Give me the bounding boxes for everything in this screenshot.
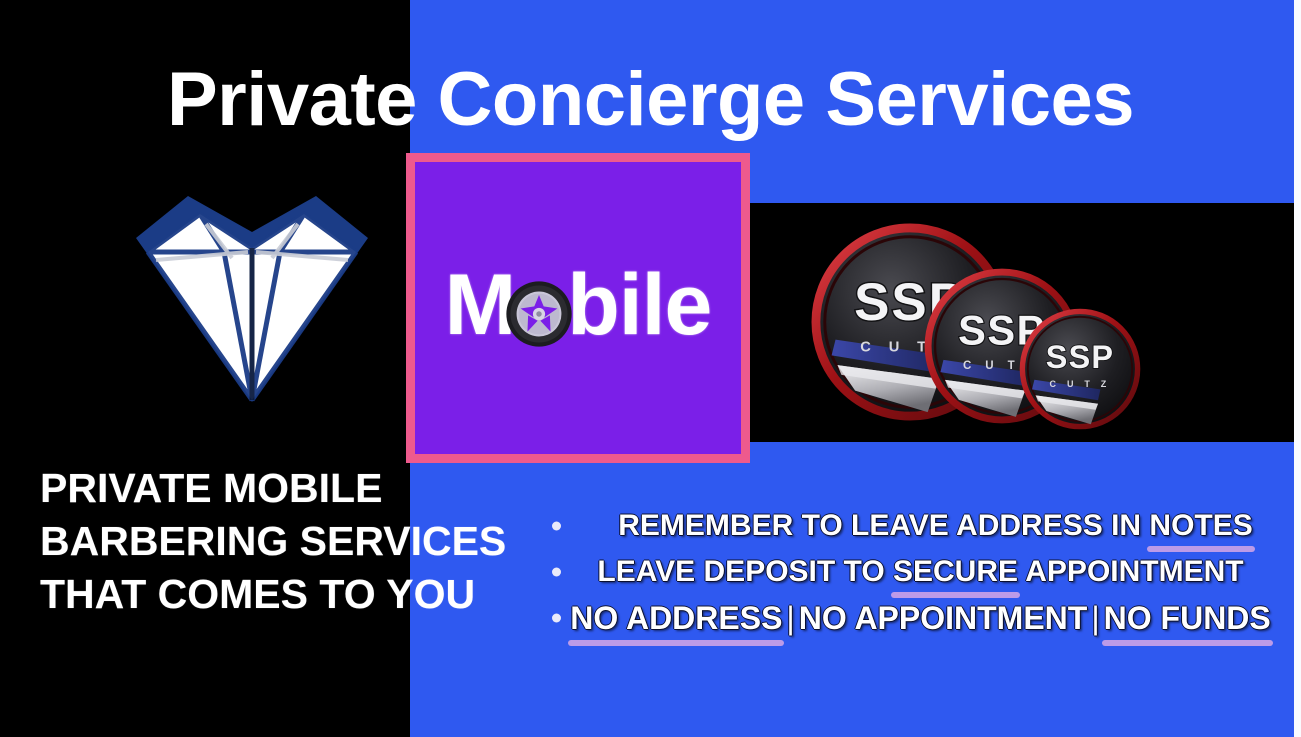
list-item: REMEMBER TO LEAVE ADDRESS IN NOTES xyxy=(548,503,1293,549)
tagline-line-2: BARBERING SERVICES xyxy=(40,515,560,568)
promo-graphic-canvas: Private Concierge Services xyxy=(0,0,1301,737)
bullet-3-part2: NO APPOINTMENT xyxy=(799,600,1088,636)
bullet-dot-icon xyxy=(552,522,561,531)
tire-wheel-icon xyxy=(505,280,573,348)
list-item-text: REMEMBER TO LEAVE ADDRESS IN NOTES xyxy=(548,509,1293,543)
bullet-3-part3: NO FUNDS xyxy=(1104,600,1271,637)
bullet-1-underlined: NOTES xyxy=(1149,509,1252,543)
mobile-badge-card: M bile xyxy=(406,153,750,463)
bullet-3-separator-1: | xyxy=(782,600,798,637)
bullet-1-pre: REMEMBER TO LEAVE ADDRESS IN xyxy=(618,509,1149,542)
tagline-line-1: PRIVATE MOBILE xyxy=(40,462,560,515)
list-item: LEAVE DEPOSIT TO SECURE APPOINTMENT xyxy=(548,549,1293,595)
bullet-3-separator-2: | xyxy=(1087,600,1103,637)
bullet-dot-icon xyxy=(552,568,561,577)
diamond-gem-icon xyxy=(128,186,376,408)
list-item-text: LEAVE DEPOSIT TO SECURE APPOINTMENT xyxy=(548,555,1293,589)
mobile-wordmark: M bile xyxy=(445,262,712,348)
bullet-2-post: APPOINTMENT xyxy=(1018,555,1244,588)
page-title: Private Concierge Services xyxy=(0,62,1301,138)
bullet-2-underlined: SECURE xyxy=(893,555,1018,589)
list-item-text: NO ADDRESS|NO APPOINTMENT|NO FUNDS xyxy=(548,600,1293,637)
bullet-3-part1: NO ADDRESS xyxy=(570,600,782,637)
instructions-list: REMEMBER TO LEAVE ADDRESS IN NOTES LEAVE… xyxy=(548,503,1293,641)
tagline-block: PRIVATE MOBILE BARBERING SERVICES THAT C… xyxy=(40,462,560,621)
ssp-cutz-badge-icon: SSP C U T Z xyxy=(790,214,1170,434)
bullet-2-pre: LEAVE DEPOSIT TO xyxy=(597,555,893,588)
list-item: NO ADDRESS|NO APPOINTMENT|NO FUNDS xyxy=(548,595,1293,641)
tagline-line-3: THAT COMES TO YOU xyxy=(40,568,560,621)
mobile-text-after: bile xyxy=(567,262,711,348)
bullet-dot-icon xyxy=(552,614,561,623)
